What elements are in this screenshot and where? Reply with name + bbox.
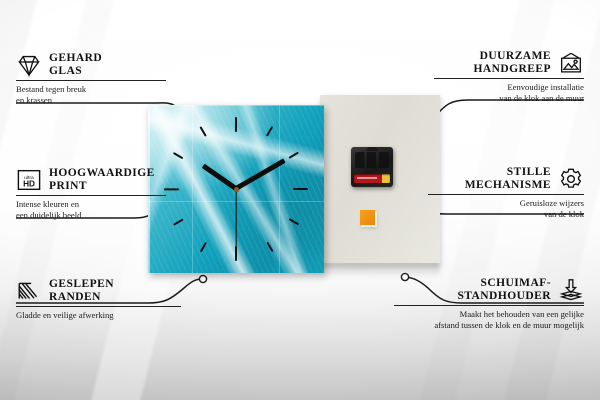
- foam-spacer-pad: [360, 210, 375, 225]
- feature-subtitle-line-1: Intense kleuren en: [16, 199, 166, 210]
- product-image: [120, 95, 440, 285]
- feature-header: DUURZAME HANDGREEP: [434, 50, 584, 76]
- feature-title-line-1: SCHUIMAF-: [457, 277, 551, 290]
- feature-title-line-1: STILLE: [465, 166, 551, 179]
- feature-subtitle-line-1: Gladde en veilige afwerking: [16, 310, 181, 321]
- battery: [354, 174, 390, 183]
- feature-subtitle-line-2: en krassen: [16, 95, 166, 106]
- feature-header: STILLE MECHANISME: [428, 166, 584, 192]
- feature-polished-edges[interactable]: GESLEPEN RANDEN Gladde en veilige afwerk…: [16, 278, 181, 321]
- diagonal-lines-icon: [16, 278, 42, 304]
- hands-hub: [234, 187, 239, 192]
- infographic-canvas: GEHARD GLAS Bestand tegen breuk en krass…: [0, 0, 600, 400]
- feature-subtitle-line-1: Eenvoudige installatie: [434, 82, 584, 93]
- feature-title-line-1: GESLEPEN: [49, 278, 114, 291]
- feature-title-line-1: DUURZAME: [473, 50, 551, 63]
- feature-tempered-glass[interactable]: GEHARD GLAS Bestand tegen breuk en krass…: [16, 52, 166, 105]
- svg-text:HD: HD: [23, 180, 35, 189]
- divider: [428, 194, 584, 195]
- feature-title-line-2: PRINT: [49, 180, 155, 193]
- feature-title-line-2: HANDGREEP: [473, 63, 551, 76]
- feature-foam-spacer[interactable]: SCHUIMAF- STANDHOUDER Maakt het behouden…: [394, 277, 584, 330]
- hour-marker: [164, 188, 179, 190]
- feature-title-line-1: GEHARD: [49, 52, 102, 65]
- hanging-tab-icon: [366, 147, 379, 151]
- glass-clock-face: [148, 105, 324, 273]
- feature-title-line-2: MECHANISME: [465, 179, 551, 192]
- ultra-hd-badge-icon: ultra HD: [16, 167, 42, 193]
- feature-silent-mechanism[interactable]: STILLE MECHANISME Geruisloze wijzers van…: [428, 166, 584, 219]
- back-panel-shadow: [320, 263, 440, 277]
- feature-subtitle-line-2: een duidelijk beeld: [16, 210, 166, 221]
- feature-title-line-2: RANDEN: [49, 291, 114, 304]
- feature-header: GESLEPEN RANDEN: [16, 278, 181, 304]
- divider: [394, 305, 584, 306]
- feature-title-line-2: GLAS: [49, 65, 102, 78]
- press-down-arrow-icon: [558, 277, 584, 303]
- feature-subtitle-line-2: afstand tussen de klok en de muur mogeli…: [394, 320, 584, 331]
- second-hand: [235, 189, 236, 249]
- picture-frame-icon: [558, 50, 584, 76]
- clock-mechanism: [351, 147, 393, 187]
- diamond-icon: [16, 52, 42, 78]
- feature-high-quality-print[interactable]: ultra HD HOOGWAARDIGE PRINT Intense kleu…: [16, 167, 166, 220]
- feature-subtitle-line-1: Geruisloze wijzers: [428, 198, 584, 209]
- feature-title-line-1: HOOGWAARDIGE: [49, 167, 155, 180]
- feature-subtitle-line-2: van de klok: [428, 209, 584, 220]
- divider: [16, 195, 166, 196]
- feature-subtitle-line-2: van de klok aan de muur: [434, 93, 584, 104]
- gear-icon: [558, 166, 584, 192]
- feature-title-line-2: STANDHOUDER: [457, 290, 551, 303]
- mechanism-housing-detail: [355, 152, 389, 168]
- feature-subtitle-line-1: Bestand tegen breuk: [16, 84, 166, 95]
- divider: [16, 80, 166, 81]
- feature-header: SCHUIMAF- STANDHOUDER: [394, 277, 584, 303]
- divider: [16, 306, 181, 307]
- feature-header: GEHARD GLAS: [16, 52, 166, 78]
- feature-durable-handle[interactable]: DUURZAME HANDGREEP Eenvoudige installati…: [434, 50, 584, 103]
- divider: [434, 78, 584, 79]
- feature-subtitle-line-1: Maakt het behouden van een gelijke: [394, 309, 584, 320]
- feature-header: ultra HD HOOGWAARDIGE PRINT: [16, 167, 166, 193]
- hour-marker: [235, 117, 237, 132]
